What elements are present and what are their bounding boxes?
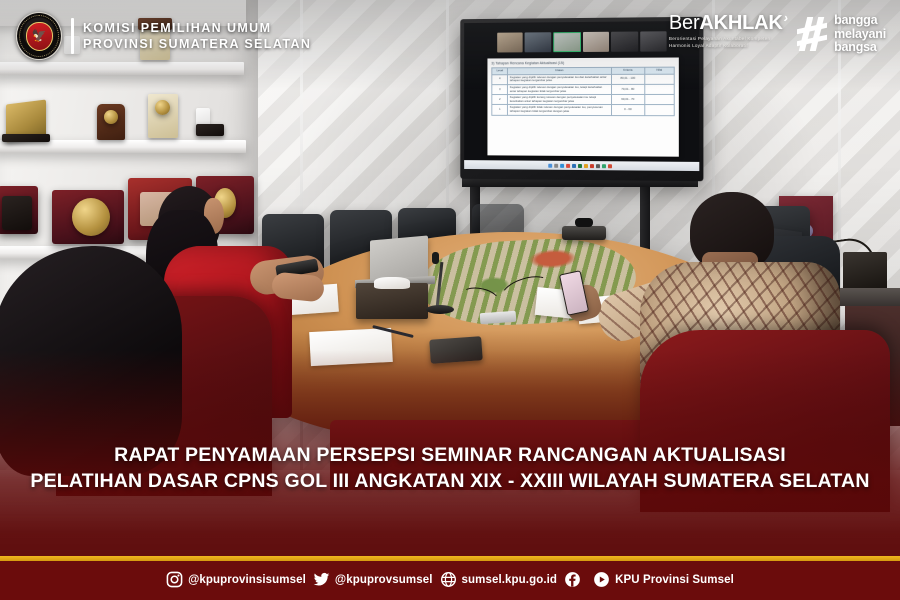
- berakhlak-wordmark: Ber AKHLAK ›: [669, 13, 788, 33]
- tissue-sheet: [374, 277, 410, 289]
- youtube-icon: [593, 571, 610, 588]
- taskbar-icon: [596, 164, 600, 168]
- taskbar-icon: [584, 164, 588, 168]
- social-item-youtube[interactable]: KPU Provinsi Sumsel: [593, 571, 734, 588]
- berakhlak-subtitle-1: Berorientasi Pelayanan Akuntabel Kompete…: [669, 36, 788, 43]
- taskbar-icon: [578, 163, 582, 167]
- equipment-box: [843, 252, 887, 290]
- instagram-handle: @kpuprovinsisumsel: [188, 574, 306, 586]
- taskbar-icon: [560, 163, 564, 167]
- social-item-instagram[interactable]: @kpuprovinsisumsel: [166, 571, 306, 588]
- tv-stand-leg: [640, 186, 650, 250]
- hashtag-icon: [797, 17, 827, 51]
- header-divider: [71, 18, 74, 54]
- meeting-room-photo: 3) Tahapan Rencana Kegiatan Aktualisasi …: [0, 0, 900, 600]
- berakhlak-prefix: Ber: [669, 13, 700, 33]
- social-item-website[interactable]: sumsel.kpu.go.id: [440, 571, 558, 588]
- bangga-line-1: bangga: [834, 14, 886, 28]
- facebook-icon: [564, 571, 581, 588]
- caption-line-1: RAPAT PENYAMAAN PERSEPSI SEMINAR RANCANG…: [0, 442, 900, 468]
- trophy-item: [2, 134, 50, 142]
- cell-uraian: Kegiatan yang dipilih kurang relevan den…: [508, 95, 611, 105]
- bangga-melayani-bangsa-logo: bangga melayani bangsa: [797, 14, 886, 55]
- taskbar-icon: [554, 163, 558, 167]
- trophy-item: [196, 124, 224, 136]
- organization-name: KOMISI PEMILIHAN UMUM PROVINSI SUMATERA …: [83, 21, 311, 52]
- social-item-facebook[interactable]: [564, 571, 586, 588]
- berakhlak-logo: Ber AKHLAK › Berorientasi Pelayanan Akun…: [669, 13, 788, 50]
- table-row: 2 Kegiatan yang dipilih kurang relevan d…: [492, 95, 674, 105]
- taskbar-icon: [590, 164, 594, 168]
- cell-uraian: Kegiatan yang dipilih tidak relevan deng…: [508, 105, 611, 115]
- table-row: 1 Kegiatan yang dipilih tidak relevan de…: [492, 105, 674, 116]
- webcam-icon: [575, 218, 593, 227]
- laptop-screen: [370, 235, 428, 282]
- globe-icon: [440, 571, 457, 588]
- twitter-handle: @kpuprovsumsel: [335, 574, 433, 586]
- event-caption: RAPAT PENYAMAAN PERSEPSI SEMINAR RANCANG…: [0, 442, 900, 494]
- berakhlak-word: AKHLAK: [699, 13, 782, 33]
- org-line-1: KOMISI PEMILIHAN UMUM: [83, 21, 311, 36]
- instagram-icon: [166, 571, 183, 588]
- trophy-item: [2, 196, 32, 230]
- microphone-head: [432, 252, 439, 264]
- medal-icon: [72, 198, 110, 236]
- seal-shield: 🦅: [26, 22, 53, 51]
- taskbar-icon: [602, 164, 606, 168]
- medal-icon: [155, 100, 170, 115]
- gold-accent-line: [0, 556, 900, 561]
- bangga-line-2: melayani: [834, 28, 886, 42]
- berakhlak-subtitle-2: Harmonis Loyal Adaptif Kolaboratif: [669, 43, 788, 50]
- garuda-emblem-icon: 🦅: [31, 29, 48, 44]
- windows-taskbar: [464, 160, 699, 171]
- website-url: sumsel.kpu.go.id: [462, 574, 558, 586]
- poster-canvas: 3) Tahapan Rencana Kegiatan Aktualisasi …: [0, 0, 900, 600]
- social-links: @kpuprovinsisumsel @kpuprovsumsel sumsel…: [166, 571, 734, 588]
- org-line-2: PROVINSI SUMATERA SELATAN: [83, 37, 311, 52]
- taskbar-icon: [608, 164, 612, 168]
- microphone-base: [426, 305, 454, 314]
- social-item-twitter[interactable]: @kpuprovsumsel: [313, 571, 433, 588]
- taskbar-icon: [566, 163, 570, 167]
- projector-unit: [562, 226, 606, 240]
- bangga-text: bangga melayani bangsa: [834, 14, 886, 55]
- cell-level: 1: [492, 105, 508, 115]
- medal-icon: [104, 110, 118, 124]
- cell-kriteria: 0 - 60: [611, 105, 644, 115]
- twitter-icon: [313, 571, 330, 588]
- kpu-seal-icon: 🦅: [16, 12, 62, 60]
- brand-header: 🦅 KOMISI PEMILIHAN UMUM PROVINSI SUMATER…: [16, 12, 311, 60]
- taskbar-icon: [548, 163, 552, 167]
- bangga-line-3: bangsa: [834, 41, 886, 55]
- cell-nilai: [644, 95, 674, 105]
- cell-level: 2: [492, 95, 508, 105]
- caption-line-2: PELATIHAN DASAR CPNS GOL III ANGKATAN XI…: [0, 468, 900, 494]
- youtube-channel: KPU Provinsi Sumsel: [615, 574, 734, 586]
- cell-nilai: [644, 105, 674, 115]
- social-footer: @kpuprovinsisumsel @kpuprovsumsel sumsel…: [0, 556, 900, 600]
- cell-kriteria: 60,01 - 70: [611, 95, 644, 105]
- side-table: [836, 288, 900, 306]
- taskbar-icon: [572, 163, 576, 167]
